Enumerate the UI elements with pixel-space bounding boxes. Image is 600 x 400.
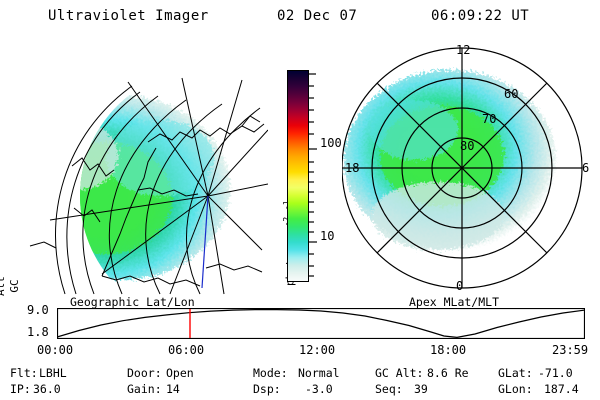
orbit-ylabel-alt-wrap: Alt <box>0 269 7 303</box>
orbit-ylabel-alt: Alt <box>0 276 7 296</box>
status-mode-label: Mode: <box>253 366 288 380</box>
mlt-spokes <box>342 48 582 288</box>
orbit-xtick-1200: 12:00 <box>299 343 335 357</box>
colorbar-group[interactable]: photon cm-2s-1 100 10 <box>272 64 342 292</box>
status-door-label: Door: <box>127 366 162 380</box>
status-mode-value: Normal <box>298 366 340 380</box>
status-gain-value: 14 <box>166 382 180 396</box>
status-seq-label: Seq: <box>375 382 403 396</box>
mlt-label-0: 0 <box>456 279 463 293</box>
mlt-label-12: 12 <box>456 43 470 57</box>
orbit-xtick-1800: 18:00 <box>430 343 466 357</box>
status-gcalt-label: GC Alt: <box>375 366 423 380</box>
aurora-faint <box>38 122 118 190</box>
orbit-altitude-curve <box>57 310 584 338</box>
status-glat-label: GLat: <box>498 366 533 380</box>
mlat-label-60: 60 <box>504 87 518 101</box>
magnetic-polar-panel[interactable]: 12 6 0 18 60 70 80 <box>342 38 598 296</box>
status-ip-value: 36.0 <box>33 382 61 396</box>
left-panel-title: Geographic Lat/Lon <box>70 295 195 309</box>
page-title: Ultraviolet Imager <box>48 8 209 24</box>
right-panel-title: Apex MLat/MLT <box>409 295 499 309</box>
mlat-label-80: 80 <box>460 139 474 153</box>
orbit-ytick-low: 1.8 <box>27 325 49 339</box>
aurora-emission-right <box>344 70 556 250</box>
colorbar-tick-100: 100 <box>320 136 342 150</box>
orbit-xtick-0600: 06:00 <box>168 343 204 357</box>
observation-date: 02 Dec 07 <box>277 8 357 24</box>
orbit-ytick-high: 9.0 <box>27 303 49 317</box>
orbit-ylabel-gc: GC <box>8 279 21 292</box>
mlt-label-18: 18 <box>345 161 359 175</box>
status-flt-label: Flt: <box>10 366 38 380</box>
orbit-ylabel: GC <box>8 269 21 303</box>
status-dsp-value: -3.0 <box>305 382 333 396</box>
status-glat-value: -71.0 <box>538 366 573 380</box>
status-ip-label: IP: <box>10 382 31 396</box>
status-flt-value: LBHL <box>39 366 67 380</box>
status-glon-value: 187.4 <box>544 382 579 396</box>
observation-time: 06:09:22 UT <box>431 8 529 24</box>
status-glon-label: GLon: <box>498 382 533 396</box>
orbit-xtick-2359: 23:59 <box>552 343 588 357</box>
orbit-altitude-plot[interactable] <box>57 308 585 339</box>
status-gain-label: Gain: <box>127 382 162 396</box>
status-seq-value: 39 <box>414 382 428 396</box>
orbit-plot-frame <box>58 309 585 339</box>
status-dsp-label: Dsp: <box>253 382 281 396</box>
mlat-label-70: 70 <box>482 112 496 126</box>
orbit-xtick-0000: 00:00 <box>37 343 73 357</box>
status-gcalt-value: 8.6 Re <box>427 366 469 380</box>
colorbar-ticks <box>309 70 319 282</box>
status-door-value: Open <box>166 366 194 380</box>
colorbar-strip[interactable] <box>287 70 309 282</box>
geographic-image-panel[interactable] <box>10 38 268 296</box>
mlt-label-6: 6 <box>582 161 589 175</box>
colorbar-tick-10: 10 <box>320 229 334 243</box>
